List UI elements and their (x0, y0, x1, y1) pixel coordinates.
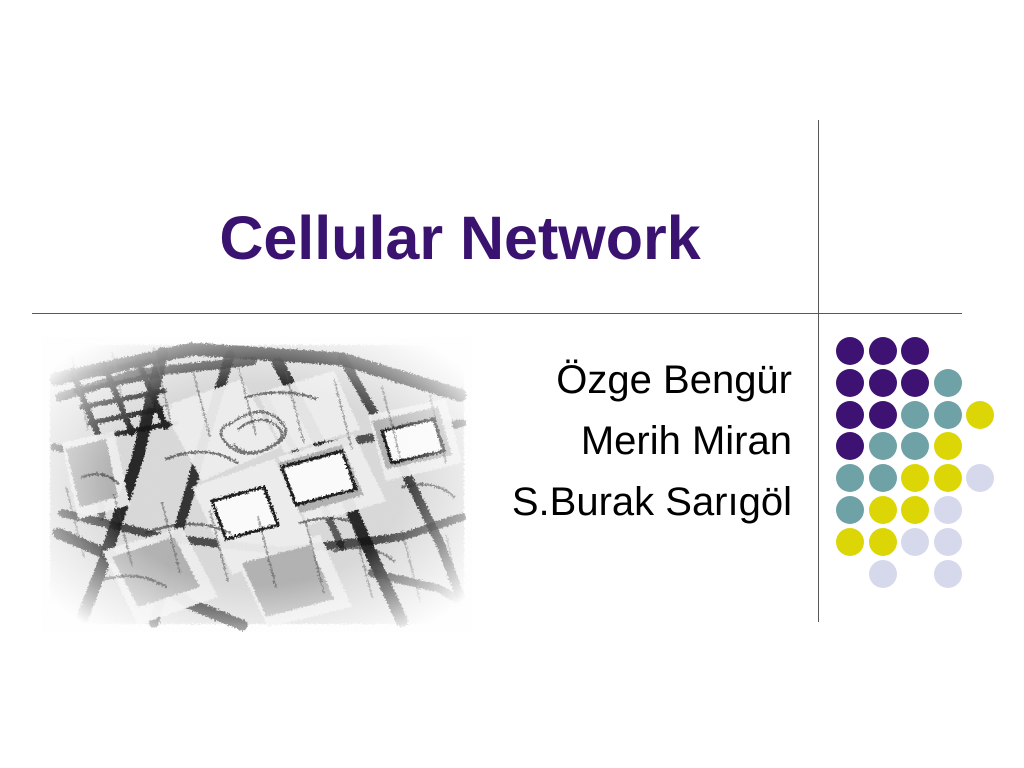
dot-grid-row (836, 400, 1008, 432)
presentation-title-slide: Cellular Network Özge Bengür Merih Miran… (0, 0, 1024, 768)
dot-lavender (869, 560, 897, 588)
dot-purple (901, 337, 929, 365)
dot-lavender (966, 464, 994, 492)
vertical-divider (818, 120, 819, 622)
dot-grid-row (836, 368, 1008, 400)
dot-purple (869, 369, 897, 397)
dot-teal (934, 401, 962, 429)
dot-grid-row (836, 559, 1008, 591)
dot-yellow (934, 432, 962, 460)
dot-purple (869, 337, 897, 365)
dot-grid-row (836, 336, 1008, 368)
dot-yellow (901, 496, 929, 524)
author-list: Özge Bengür Merih Miran S.Burak Sarıgöl (430, 350, 792, 532)
dot-yellow (901, 464, 929, 492)
author-name: S.Burak Sarıgöl (430, 472, 792, 533)
decorative-dot-grid (836, 336, 1008, 588)
dot-lavender (901, 528, 929, 556)
dot-yellow (934, 464, 962, 492)
dot-teal (869, 464, 897, 492)
dot-yellow (966, 401, 994, 429)
slide-title: Cellular Network (120, 206, 800, 270)
dot-teal (836, 464, 864, 492)
dot-grid-row (836, 495, 1008, 527)
dot-teal (869, 432, 897, 460)
dot-grid-row (836, 527, 1008, 559)
dot-teal (901, 401, 929, 429)
dot-teal (901, 432, 929, 460)
dot-purple (869, 401, 897, 429)
dot-lavender (934, 560, 962, 588)
dot-yellow (836, 528, 864, 556)
dot-teal (934, 369, 962, 397)
author-name: Özge Bengür (430, 350, 792, 411)
mobile-phones-sketch-image (42, 337, 472, 632)
dot-purple (836, 369, 864, 397)
dot-teal (836, 496, 864, 524)
dot-lavender (934, 528, 962, 556)
dot-lavender (934, 496, 962, 524)
dot-yellow (869, 496, 897, 524)
dot-yellow (869, 528, 897, 556)
dot-purple (836, 401, 864, 429)
dot-purple (836, 337, 864, 365)
horizontal-divider (32, 313, 962, 314)
dot-purple (836, 432, 864, 460)
dot-grid-row (836, 463, 1008, 495)
dot-grid-row (836, 431, 1008, 463)
dot-purple (901, 369, 929, 397)
author-name: Merih Miran (430, 411, 792, 472)
